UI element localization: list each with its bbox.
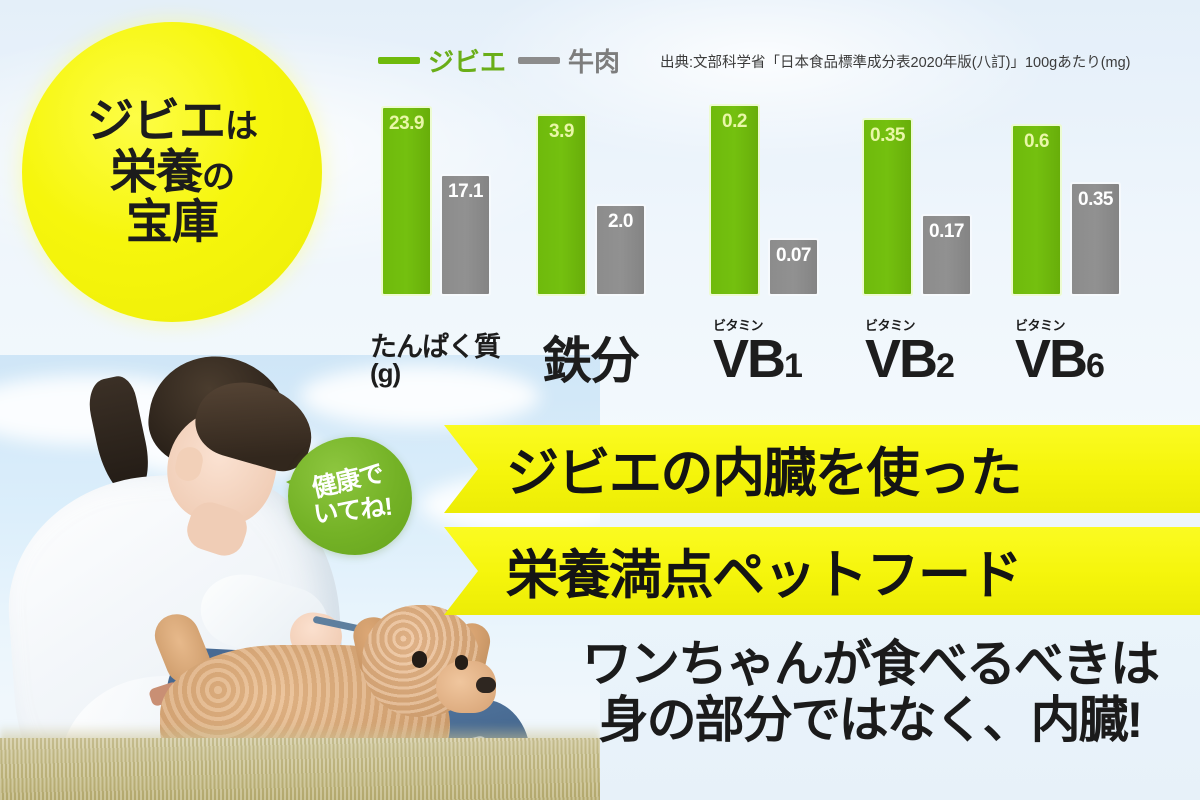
category-label-vb2-main: VB2 — [865, 333, 953, 386]
vb-text: VB — [865, 329, 936, 389]
vb-subscript: 1 — [784, 347, 801, 385]
headline-ribbon-2: 栄養満点ペットフード — [444, 527, 1200, 615]
advertisement-banner: ジビエは 栄養の 宝庫 ジビエ 牛肉 出典:文部科学省「日本食品標準成分表202… — [0, 0, 1200, 800]
legend-swatch-gibier — [378, 57, 420, 64]
category-label-protein: たんぱく質 (g) — [370, 334, 500, 386]
bottom-copy-line-1: ワンちゃんが食べるべきは — [560, 636, 1180, 692]
category-label-protein-unit: (g) — [370, 360, 500, 386]
badge-line-1-main: ジビエ — [87, 94, 225, 147]
vb-text: VB — [713, 329, 784, 389]
category-label-iron: 鉄分 — [542, 337, 638, 386]
category-label-iron-main: 鉄分 — [542, 337, 638, 386]
bar-gibier-vb6: 0.6 — [1013, 126, 1060, 294]
speech-bubble-text: 健康で いてね! — [280, 428, 421, 564]
dog-eye — [412, 651, 427, 668]
bar-value-label: 3.9 — [538, 121, 585, 143]
chart-category-labels: たんぱく質 (g) 鉄分 ビタミン VB1 ビタミン VB2 ビタミン VB6 — [360, 296, 1180, 386]
bottom-copy-line-2: 身の部分ではなく、内臓! — [560, 692, 1180, 748]
category-label-vb2: ビタミン VB2 — [865, 319, 953, 386]
chart-legend: ジビエ 牛肉 — [378, 42, 620, 79]
bar-beef-vb2: 0.17 — [923, 216, 970, 294]
bar-beef-vb6: 0.35 — [1072, 184, 1119, 294]
bar-group-vb2: 0.35 0.17 — [864, 94, 970, 294]
bar-value-label: 23.9 — [383, 113, 430, 135]
nutrition-badge-text: ジビエは 栄養の 宝庫 — [22, 22, 322, 322]
grass-field — [0, 738, 600, 800]
bar-gibier-vb1: 0.2 — [711, 106, 758, 294]
bar-value-label: 0.35 — [864, 125, 911, 147]
bar-beef-protein: 17.1 — [442, 176, 489, 294]
bar-group-vb6: 0.6 0.35 — [1013, 94, 1119, 294]
bar-group-protein: 23.9 17.1 — [383, 94, 489, 294]
bar-beef-iron: 2.0 — [597, 206, 644, 294]
category-label-protein-main: たんぱく質 — [370, 334, 500, 360]
bar-group-vb1: 0.2 0.07 — [711, 94, 817, 294]
bar-value-label: 0.6 — [1013, 131, 1060, 153]
legend-label-gibier: ジビエ — [428, 42, 506, 79]
chart-source-note: 出典:文部科学省「日本食品標準成分表2020年版(八訂)」100gあたり(mg) — [660, 51, 1131, 72]
category-label-vb6-main: VB6 — [1015, 333, 1103, 386]
bar-value-label: 2.0 — [597, 211, 644, 233]
vb-subscript: 2 — [936, 347, 953, 385]
category-label-vb1-main: VB1 — [713, 333, 801, 386]
bar-value-label: 0.2 — [711, 111, 758, 133]
bar-value-label: 0.35 — [1072, 189, 1119, 211]
legend-item-beef: 牛肉 — [518, 42, 620, 79]
nutrition-badge-circle: ジビエは 栄養の 宝庫 — [22, 22, 322, 322]
speech-bubble: 健康で いてね! — [288, 437, 412, 555]
bar-value-label: 0.17 — [923, 221, 970, 243]
category-label-vb6: ビタミン VB6 — [1015, 319, 1103, 386]
legend-item-gibier: ジビエ — [378, 42, 506, 79]
chart-plot-area: 23.9 17.1 3.9 2.0 0.2 0.07 — [360, 94, 1180, 294]
vb-text: VB — [1015, 329, 1086, 389]
legend-label-beef: 牛肉 — [568, 42, 620, 79]
badge-line-2-main: 栄養 — [110, 145, 202, 198]
bar-gibier-iron: 3.9 — [538, 116, 585, 294]
vb-subscript: 6 — [1086, 347, 1103, 385]
dog-eye — [455, 655, 468, 670]
badge-line-1: ジビエは — [87, 97, 257, 146]
badge-line-1-suffix: は — [225, 107, 257, 144]
badge-line-2-suffix: の — [202, 158, 234, 195]
bar-gibier-vb2: 0.35 — [864, 120, 911, 294]
bar-value-label: 17.1 — [442, 181, 489, 203]
nutrition-comparison-chart: ジビエ 牛肉 出典:文部科学省「日本食品標準成分表2020年版(八訂)」100g… — [360, 34, 1180, 384]
bar-value-label: 0.07 — [770, 245, 817, 267]
category-label-vb1: ビタミン VB1 — [713, 319, 801, 386]
bar-group-iron: 3.9 2.0 — [538, 94, 644, 294]
badge-line-2: 栄養の — [110, 148, 234, 197]
bar-gibier-protein: 23.9 — [383, 108, 430, 294]
bottom-copy: ワンちゃんが食べるべきは 身の部分ではなく、内臓! — [560, 636, 1180, 748]
headline-ribbon-2-text: 栄養満点ペットフード — [506, 533, 1021, 609]
legend-swatch-beef — [518, 57, 560, 64]
headline-ribbon-1: ジビエの内臓を使った — [444, 425, 1200, 513]
headline-ribbon-1-text: ジビエの内臓を使った — [506, 431, 1021, 507]
dog-nose — [476, 677, 496, 693]
badge-line-3: 宝庫 — [126, 198, 218, 247]
bar-beef-vb1: 0.07 — [770, 240, 817, 294]
